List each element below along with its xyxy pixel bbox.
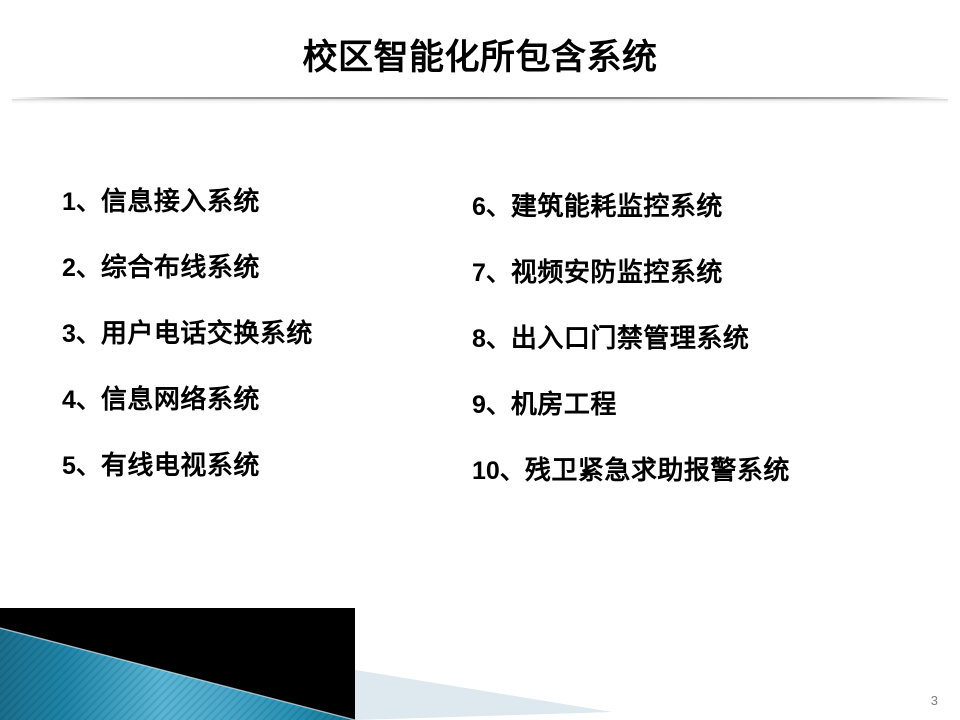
teal-band-shape xyxy=(0,600,360,720)
page-title: 校区智能化所包含系统 xyxy=(0,36,960,80)
list-item-number: 3、 xyxy=(62,320,101,348)
title-divider-shadow xyxy=(12,99,948,104)
list-item-label: 有线电视系统 xyxy=(101,451,260,481)
list-item-number: 4、 xyxy=(62,386,101,414)
list-item: 8、出入口门禁管理系统 xyxy=(472,319,790,385)
list-item-label: 建筑能耗监控系统 xyxy=(511,192,723,222)
list-item: 6、建筑能耗监控系统 xyxy=(472,187,790,253)
list-item-number: 5、 xyxy=(62,452,101,480)
list-item: 1、信息接入系统 xyxy=(62,182,313,248)
list-item-number: 10、 xyxy=(472,457,525,485)
list-item-number: 2、 xyxy=(62,254,101,282)
system-list-right: 6、建筑能耗监控系统 7、视频安防监控系统 8、出入口门禁管理系统 9、机房工程… xyxy=(472,187,790,517)
page-number: 3 xyxy=(931,693,938,708)
list-item: 4、信息网络系统 xyxy=(62,380,313,446)
pale-blue-sliver-shape-2 xyxy=(355,670,612,720)
list-item: 2、综合布线系统 xyxy=(62,248,313,314)
slide-canvas: 校区智能化所包含系统 1、信息接入系统 2、综合布线系统 3、用户电话交换系统 … xyxy=(0,0,960,720)
decorative-corner-graphic xyxy=(0,600,960,720)
list-item-number: 9、 xyxy=(472,391,511,419)
list-item-number: 8、 xyxy=(472,325,511,353)
list-item: 7、视频安防监控系统 xyxy=(472,253,790,319)
black-wedge-shape xyxy=(0,608,355,720)
list-item: 9、机房工程 xyxy=(472,385,790,451)
list-item-label: 机房工程 xyxy=(511,390,617,420)
teal-band-texture xyxy=(0,600,360,720)
list-item: 5、有线电视系统 xyxy=(62,446,313,512)
system-list-left: 1、信息接入系统 2、综合布线系统 3、用户电话交换系统 4、信息网络系统 5、… xyxy=(62,182,313,512)
list-item-label: 视频安防监控系统 xyxy=(511,258,723,288)
list-item-label: 综合布线系统 xyxy=(101,253,260,283)
list-item-label: 信息接入系统 xyxy=(101,187,260,217)
list-item-label: 残卫紧急求助报警系统 xyxy=(525,456,790,486)
pale-blue-sliver-shape xyxy=(355,670,612,712)
list-item-number: 6、 xyxy=(472,193,511,221)
list-item-label: 信息网络系统 xyxy=(101,385,260,415)
list-item-number: 7、 xyxy=(472,259,511,287)
list-item: 10、残卫紧急求助报警系统 xyxy=(472,451,790,517)
teal-edge-highlight xyxy=(0,628,355,720)
list-item: 3、用户电话交换系统 xyxy=(62,314,313,380)
list-item-label: 出入口门禁管理系统 xyxy=(511,324,750,354)
list-item-label: 用户电话交换系统 xyxy=(101,319,313,349)
list-item-number: 1、 xyxy=(62,188,101,216)
